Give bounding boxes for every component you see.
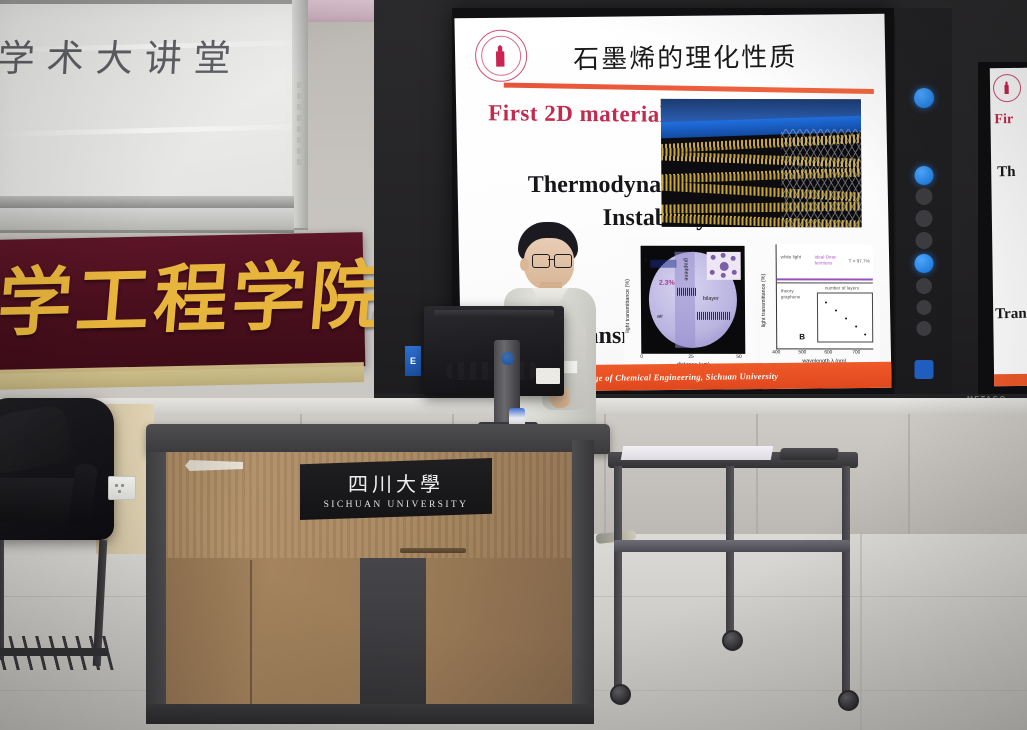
chart-b-label-dirac: ideal Dirac fermions — [815, 254, 845, 266]
chart-a-annotation-23pct: 2.3% — [659, 280, 675, 287]
chart-b-panel-letter: B — [799, 332, 805, 341]
chart-a-plot: 2.3% air graphene bilayer A — [641, 246, 746, 354]
window-icon[interactable] — [917, 321, 932, 336]
presenter-glasses — [532, 254, 574, 266]
app-launcher-icon[interactable] — [915, 360, 934, 379]
eraser-icon[interactable] — [916, 232, 933, 249]
secondary-block-light: Tran — [995, 306, 1027, 323]
secondary-slide: Fir Th Tran — [990, 68, 1027, 387]
chart-b-xtick-3: 700 — [852, 351, 860, 356]
cart-leg — [842, 466, 850, 692]
slide-title: 石墨烯的理化性质 — [573, 36, 864, 76]
select-icon[interactable] — [916, 278, 932, 294]
chart-a-xtick-2: 50 — [736, 355, 741, 360]
whiteboard-marker-tray — [0, 196, 294, 208]
podium-top — [146, 424, 610, 454]
podium-plaque-cn: 四川大學 — [348, 468, 444, 497]
chart-a-ylabel: light transmittance (%) — [625, 254, 638, 358]
title-underline — [504, 83, 874, 94]
chart-panel-b: light transmittance (%) white light idea… — [759, 236, 880, 372]
sichuan-university-crest-icon — [993, 74, 1021, 102]
cart-lower-shelf — [614, 540, 850, 552]
dell-logo-icon — [501, 352, 514, 365]
more-icon[interactable] — [917, 300, 932, 315]
podium-dark-panel — [360, 558, 426, 722]
chart-a-label-graphene: graphene — [683, 258, 689, 281]
cart-paper-stack — [621, 446, 773, 460]
annotation-toolbar[interactable] — [896, 8, 952, 394]
banner-text: 学工程学院 — [0, 248, 352, 352]
slide-heading-first2d: First 2D material — [488, 100, 666, 128]
chart-a-xtick-0: 0 — [640, 355, 643, 360]
monitor-sticker — [536, 368, 560, 384]
floor-seam — [860, 534, 862, 730]
presenter-ear — [520, 258, 529, 271]
cart-wheel — [722, 630, 743, 651]
cart-leg — [614, 466, 622, 686]
secondary-heading-first2d: Fir — [994, 112, 1013, 128]
whiteboard-handwriting: 学术大讲堂 — [0, 28, 269, 82]
cart-object — [779, 448, 839, 460]
pen-icon[interactable] — [916, 188, 933, 205]
sichuan-university-crest-icon — [475, 30, 528, 83]
chart-b-inset: number of layers — [817, 292, 873, 342]
whiteboard-button-strip[interactable] — [297, 82, 304, 170]
chart-b-ylabel: light transmittance (%) — [761, 250, 774, 350]
chart-b-label-whitelight: white light — [781, 254, 801, 260]
cabinet-seam — [756, 414, 758, 534]
cabinet-seam — [908, 414, 910, 534]
podium-base — [146, 704, 594, 724]
cart-wheel — [838, 690, 859, 711]
wall-power-outlet[interactable] — [108, 476, 136, 500]
cart-wheel — [610, 684, 631, 705]
podium-left-side — [146, 452, 166, 722]
chart-a-label-bilayer: bilayer — [703, 296, 719, 302]
shape-icon[interactable] — [915, 254, 934, 273]
menu-icon[interactable] — [914, 88, 934, 108]
backpack — [0, 398, 114, 540]
monitor-side-badge: E — [405, 346, 421, 376]
chart-a-panel-letter: A — [644, 258, 648, 264]
chart-b-inset-title: number of layers — [825, 285, 859, 291]
whiteboard-glare — [0, 124, 314, 138]
graphene-ripple-image — [661, 99, 862, 227]
cursor-icon[interactable] — [915, 166, 934, 185]
chart-b-xtick-2: 600 — [824, 350, 832, 355]
whiteboard-lower-panel — [0, 208, 294, 233]
secondary-slide-footer — [994, 374, 1027, 387]
chart-b-xtick-0: 400 — [772, 350, 780, 355]
chart-a-xtick-1: 25 — [688, 355, 693, 360]
podium-plaque-en: SICHUAN UNIVERSITY — [324, 500, 469, 510]
chart-panel-a: light transmittance (%) 2.3% air graphen… — [623, 238, 756, 374]
secondary-block-thermo: Th — [997, 164, 1016, 181]
chart-b-label-t977: T = 97.7% — [849, 259, 870, 265]
highlighter-icon[interactable] — [916, 210, 933, 227]
podium-plaque: 四川大學 SICHUAN UNIVERSITY — [300, 458, 492, 520]
secondary-display-screen[interactable]: Fir Th Tran — [978, 62, 1027, 394]
lecture-hall-photo: 学术大讲堂 学工程学院 石墨烯的理化性质 First 2D material T… — [0, 0, 1027, 730]
chart-a-label-air: air — [657, 314, 663, 320]
podium-right-side — [572, 440, 594, 722]
podium-handle[interactable] — [400, 548, 466, 553]
chart-b-xtick-1: 500 — [798, 350, 806, 355]
chart-b-label-theory: theory graphene — [781, 288, 805, 300]
slide-footer-text: College of Chemical Engineering, Sichuan… — [574, 371, 778, 383]
podium-seam — [250, 560, 252, 722]
chart-a-inset — [707, 252, 741, 280]
department-banner: 学工程学院 — [0, 232, 365, 374]
bench-rail — [0, 648, 108, 656]
chart-b-plot: white light ideal Dirac fermions theory … — [776, 244, 874, 349]
